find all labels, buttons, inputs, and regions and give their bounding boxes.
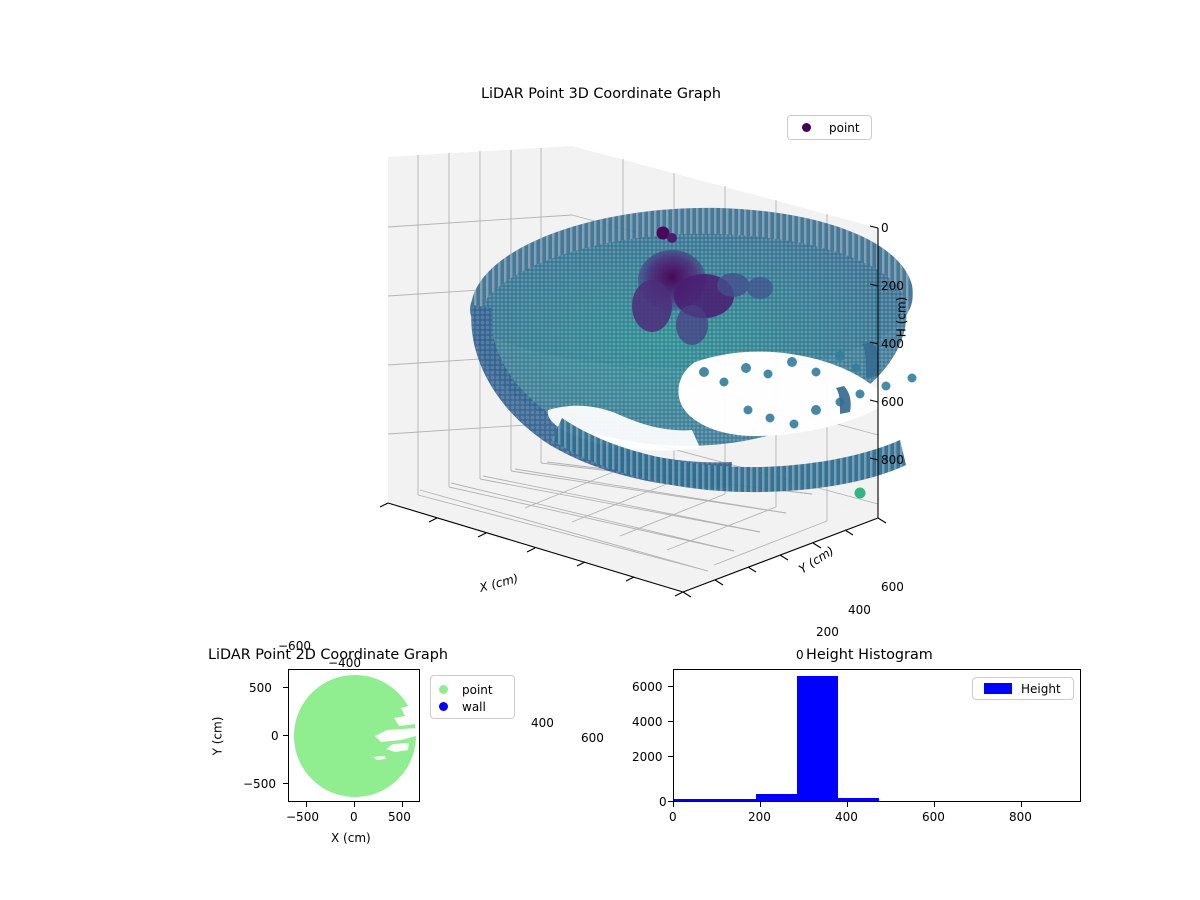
y2d-tick--500: −500 xyxy=(243,777,276,791)
x2d-tickmark-500 xyxy=(402,802,403,807)
legend-label-wall: wall xyxy=(462,700,486,714)
xhist-tickmark-600 xyxy=(934,802,935,807)
xhist-tick-400: 400 xyxy=(835,810,858,824)
yhist-tick-4000: 4000 xyxy=(632,715,663,729)
hist-bar-2 xyxy=(756,794,797,802)
y3d-tick-0: 0 xyxy=(796,648,804,662)
y3d-tick-200: 200 xyxy=(816,625,839,639)
z3d-axis-label: H (cm) xyxy=(894,297,908,338)
yhist-tick-6000: 6000 xyxy=(632,680,663,694)
legend-marker-point-2d xyxy=(439,685,448,694)
y2d-tickmark--500 xyxy=(283,783,288,784)
xhist-tickmark-0 xyxy=(673,802,674,807)
hist-bar-3 xyxy=(797,676,838,802)
xhist-tickmark-400 xyxy=(847,802,848,807)
z3d-tick-400: 400 xyxy=(881,337,904,351)
legend-marker-wall xyxy=(439,702,448,711)
lidar-2d-canvas xyxy=(289,670,420,802)
outlier-point xyxy=(855,488,866,499)
legend-row-wall: wall xyxy=(439,698,506,715)
y2d-tick-500: 500 xyxy=(249,681,272,695)
lidar-2d-title: LiDAR Point 2D Coordinate Graph xyxy=(208,647,448,663)
legend-label-height: Height xyxy=(1021,682,1061,696)
y3d-tick-400: 400 xyxy=(848,603,871,617)
histogram-bars xyxy=(674,676,879,802)
x3d-tick-400: 400 xyxy=(531,716,554,730)
xhist-tick-0: 0 xyxy=(669,810,677,824)
xhist-tick-800: 800 xyxy=(1009,810,1032,824)
height-histogram-legend[interactable]: Height xyxy=(972,677,1074,700)
z3d-tick-800: 800 xyxy=(881,453,904,467)
yhist-tickmark-6000 xyxy=(668,686,673,687)
x2d-tick-0: 0 xyxy=(350,810,358,824)
x2d-tick-500: 500 xyxy=(388,810,411,824)
z3d-tick-600: 600 xyxy=(881,395,904,409)
height-histogram-title: Height Histogram xyxy=(806,647,933,663)
z3d-tick-200: 200 xyxy=(881,279,904,293)
y2d-tick-0: 0 xyxy=(271,729,279,743)
xhist-tickmark-200 xyxy=(760,802,761,807)
legend-swatch-height xyxy=(984,683,1012,694)
yhist-tick-2000: 2000 xyxy=(632,750,663,764)
hist-bar-1 xyxy=(715,799,756,802)
figure-canvas: LiDAR Point 3D Coordinate Graph point xyxy=(0,0,1200,900)
xhist-tickmark-800 xyxy=(1021,802,1022,807)
hist-bar-0 xyxy=(674,799,715,802)
x2d-tick--500: −500 xyxy=(286,810,319,824)
lidar-2d-axes[interactable] xyxy=(288,669,420,802)
z3d-tick-0: 0 xyxy=(881,221,889,235)
x2d-tickmark--500 xyxy=(306,802,307,807)
legend-label-point-2d: point xyxy=(462,683,493,697)
lidar-2d-legend[interactable]: point wall xyxy=(430,675,515,719)
yhist-tick-0: 0 xyxy=(659,795,667,809)
xhist-tick-600: 600 xyxy=(922,810,945,824)
lidar-3d-title: LiDAR Point 3D Coordinate Graph xyxy=(481,86,721,102)
y2d-tickmark-0 xyxy=(283,735,288,736)
y3d-tick-600: 600 xyxy=(881,580,904,594)
hist-bar-4 xyxy=(838,798,879,802)
x3d-tick-600: 600 xyxy=(581,731,604,745)
y2d-tickmark-500 xyxy=(283,687,288,688)
yhist-tickmark-2000 xyxy=(668,756,673,757)
xhist-tick-200: 200 xyxy=(748,810,771,824)
legend-row-point: point xyxy=(439,681,506,698)
yhist-tickmark-4000 xyxy=(668,721,673,722)
x2d-tickmark-0 xyxy=(354,802,355,807)
y2d-axis-label: Y (cm) xyxy=(210,717,224,756)
x2d-axis-label: X (cm) xyxy=(331,831,371,845)
